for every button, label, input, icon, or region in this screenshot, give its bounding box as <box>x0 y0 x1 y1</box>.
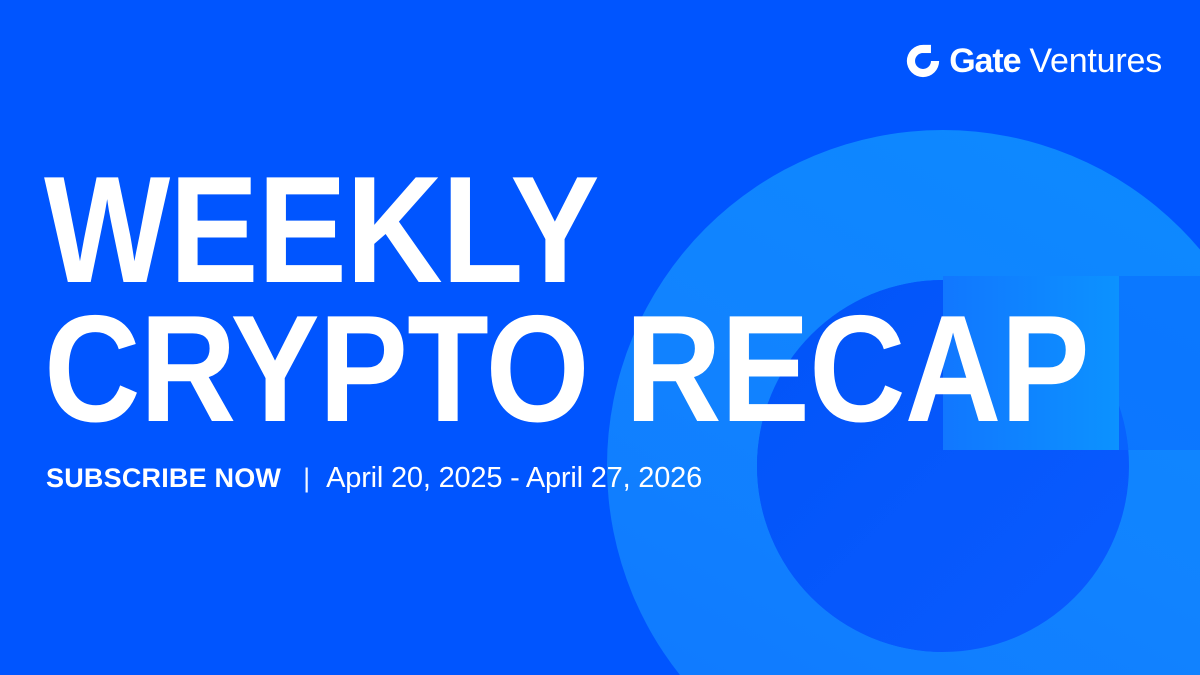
meta-divider: | <box>281 465 326 492</box>
meta-row: SUBSCRIBE NOW | April 20, 2025 - April 2… <box>46 462 702 495</box>
headline-line-2: CRYPTO RECAP <box>44 307 1089 432</box>
subscribe-now-cta[interactable]: SUBSCRIBE NOW <box>46 463 281 494</box>
headline-line-1: WEEKLY <box>44 168 1089 293</box>
date-range-label: April 20, 2025 - April 27, 2026 <box>326 462 702 495</box>
gate-g-logo-icon <box>906 44 940 78</box>
page-title: WEEKLY CRYPTO RECAP <box>44 168 1089 431</box>
brand-lockup[interactable]: Gate Ventures <box>906 44 1162 78</box>
brand-name: Gate <box>949 44 1020 78</box>
brand-suffix: Ventures <box>1029 44 1162 78</box>
weekly-crypto-recap-banner: Gate Ventures WEEKLY CRYPTO RECAP SUBSCR… <box>0 0 1200 675</box>
headline-block: WEEKLY CRYPTO RECAP <box>44 168 1200 431</box>
